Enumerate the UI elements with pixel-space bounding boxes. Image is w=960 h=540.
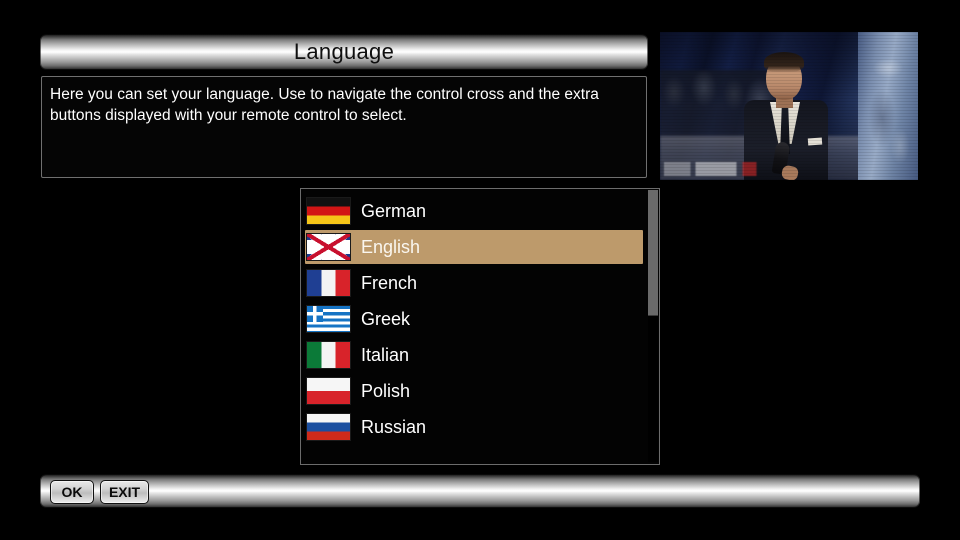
language-list-panel: GermanEnglishFrenchGreekItalianPolishRus…: [300, 188, 660, 465]
language-list-item-english[interactable]: English: [301, 229, 643, 265]
ok-button[interactable]: OK: [50, 480, 94, 504]
language-list-item-polish[interactable]: Polish: [301, 373, 643, 409]
page-title: Language: [40, 34, 648, 70]
video-reporter-hair: [764, 52, 804, 72]
language-list: GermanEnglishFrenchGreekItalianPolishRus…: [301, 193, 643, 445]
flag-russia-icon: [306, 413, 351, 441]
language-list-item-russian[interactable]: Russian: [301, 409, 643, 445]
language-list-item-label: German: [361, 201, 426, 221]
title-bar: Language: [40, 34, 648, 70]
tv-osd-screen: Language Here you can set your language.…: [0, 0, 960, 540]
flag-poland-icon: [306, 377, 351, 405]
list-scrollbar-thumb[interactable]: [648, 190, 658, 316]
language-list-item-french[interactable]: French: [301, 265, 643, 301]
language-list-item-greek[interactable]: Greek: [301, 301, 643, 337]
video-pocket-square: [808, 138, 822, 146]
flag-greece-icon: [306, 305, 351, 333]
language-list-item-label: Greek: [361, 309, 410, 329]
language-list-item-german[interactable]: German: [301, 193, 643, 229]
language-list-item-label: English: [361, 237, 420, 257]
flag-italy-icon: [306, 341, 351, 369]
language-list-item-label: Polish: [361, 381, 410, 401]
description-text: Here you can set your language. Use to n…: [50, 84, 636, 126]
video-pillar-relief: [866, 42, 912, 170]
list-scrollbar-track[interactable]: [648, 190, 658, 462]
exit-button[interactable]: EXIT: [100, 480, 149, 504]
flag-united-kingdom-icon: [306, 233, 351, 261]
language-list-item-label: Russian: [361, 417, 426, 437]
language-list-item-label: French: [361, 273, 417, 293]
language-list-item-italian[interactable]: Italian: [301, 337, 643, 373]
language-list-item-label: Italian: [361, 345, 409, 365]
flag-germany-icon: [306, 197, 351, 225]
video-channel-logo: [664, 162, 784, 176]
video-preview-pip[interactable]: [660, 32, 918, 180]
description-panel: Here you can set your language. Use to n…: [41, 76, 647, 178]
softkey-bar: OK EXIT: [40, 474, 920, 508]
selection-highlight: [305, 230, 643, 264]
flag-france-icon: [306, 269, 351, 297]
